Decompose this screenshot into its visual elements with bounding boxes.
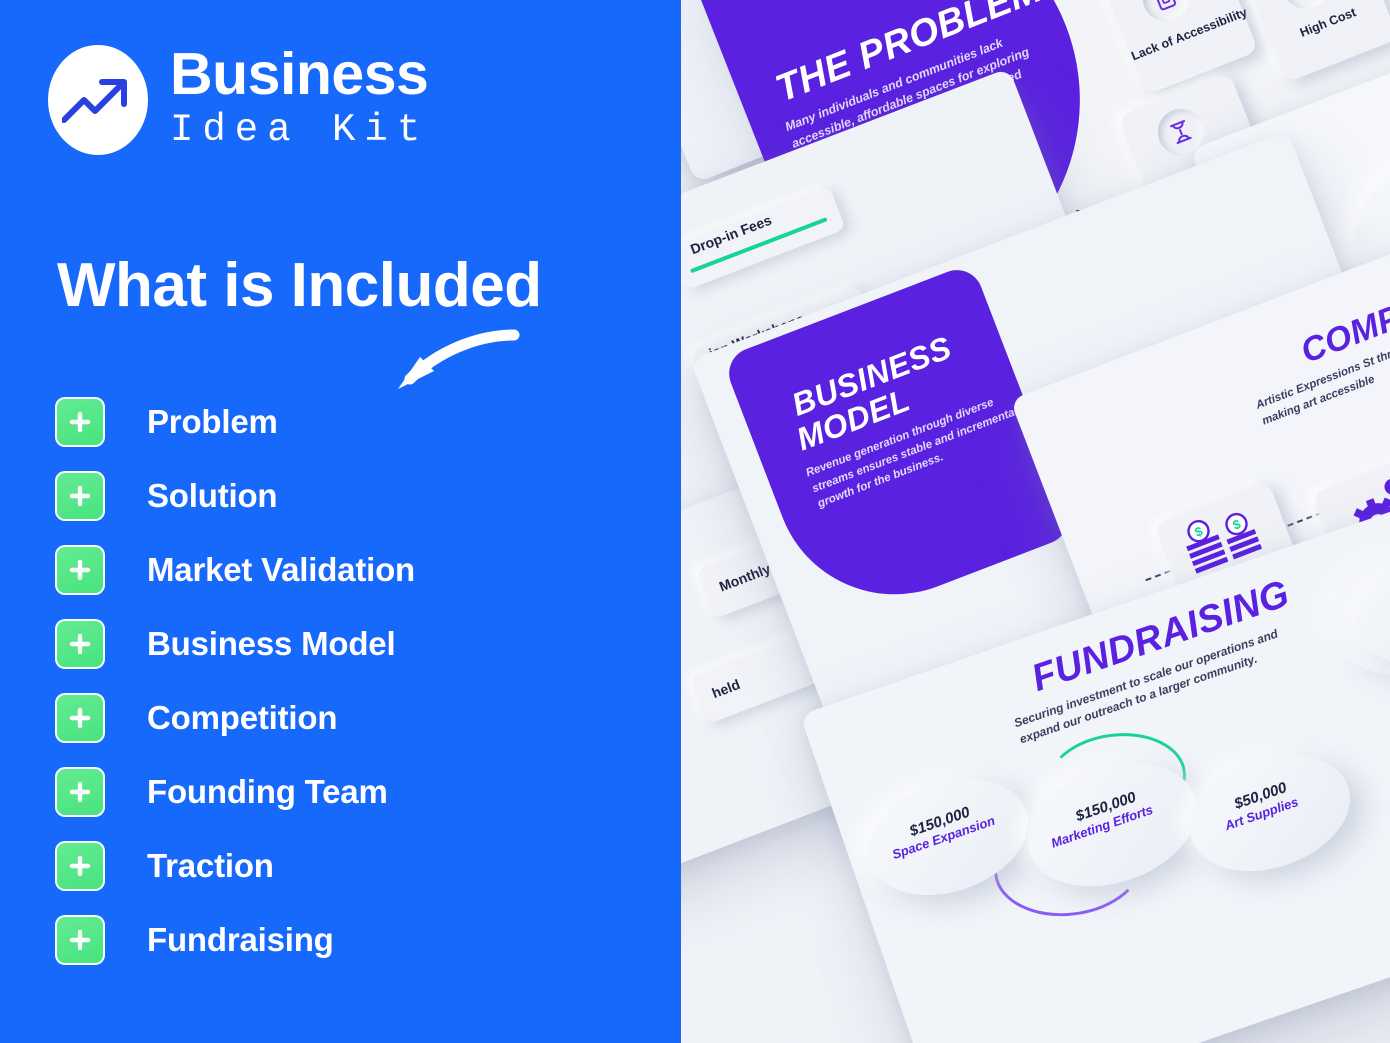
plus-icon xyxy=(55,471,105,521)
hourglass-icon xyxy=(1165,116,1196,147)
feature-label: Market Validation xyxy=(147,551,415,589)
line-chart-icon-well xyxy=(1276,0,1336,16)
plus-icon xyxy=(55,841,105,891)
feature-label: Competition xyxy=(147,699,337,737)
chip-label: Lack of Accessibility xyxy=(1129,6,1246,64)
feature-label: Fundraising xyxy=(147,921,334,959)
feature-item-problem[interactable]: Problem xyxy=(55,385,615,459)
plus-icon xyxy=(55,767,105,817)
feature-item-traction[interactable]: Traction xyxy=(55,829,615,903)
included-features-list: Problem Solution Market Validation Busin… xyxy=(55,385,615,977)
plus-icon xyxy=(55,619,105,669)
line-chart-icon xyxy=(1290,0,1321,2)
feature-label: Business Model xyxy=(147,625,395,663)
feature-item-founding-team[interactable]: Founding Team xyxy=(55,755,615,829)
feature-label: Problem xyxy=(147,403,278,441)
chip-label: High Cost xyxy=(1270,0,1387,52)
chip-high-cost[interactable]: High Cost xyxy=(1243,0,1390,83)
brand-logo: Business Idea Kit xyxy=(48,45,429,155)
locked-document-icon xyxy=(1150,0,1181,14)
locked-document-icon-well xyxy=(1136,0,1196,28)
left-blue-panel: Business Idea Kit What is Included Probl… xyxy=(0,0,681,1043)
feature-item-fundraising[interactable]: Fundraising xyxy=(55,903,615,977)
page-title: What is Included xyxy=(57,250,542,321)
plus-icon xyxy=(55,915,105,965)
feature-label: Traction xyxy=(147,847,274,885)
plus-icon xyxy=(55,693,105,743)
brand-name-line2: Idea Kit xyxy=(170,106,429,155)
growth-arrow-icon xyxy=(62,72,134,128)
brand-name-line1: Business xyxy=(170,46,429,104)
plus-icon xyxy=(55,397,105,447)
feature-item-solution[interactable]: Solution xyxy=(55,459,615,533)
feature-item-competition[interactable]: Competition xyxy=(55,681,615,755)
plus-icon xyxy=(55,545,105,595)
feature-item-market-validation[interactable]: Market Validation xyxy=(55,533,615,607)
logo-circle xyxy=(48,45,148,155)
feature-label: Founding Team xyxy=(147,773,388,811)
feature-label: Solution xyxy=(147,477,277,515)
chip-lack-of-accessibility[interactable]: Lack of Accessibility xyxy=(1103,0,1259,95)
feature-item-business-model[interactable]: Business Model xyxy=(55,607,615,681)
